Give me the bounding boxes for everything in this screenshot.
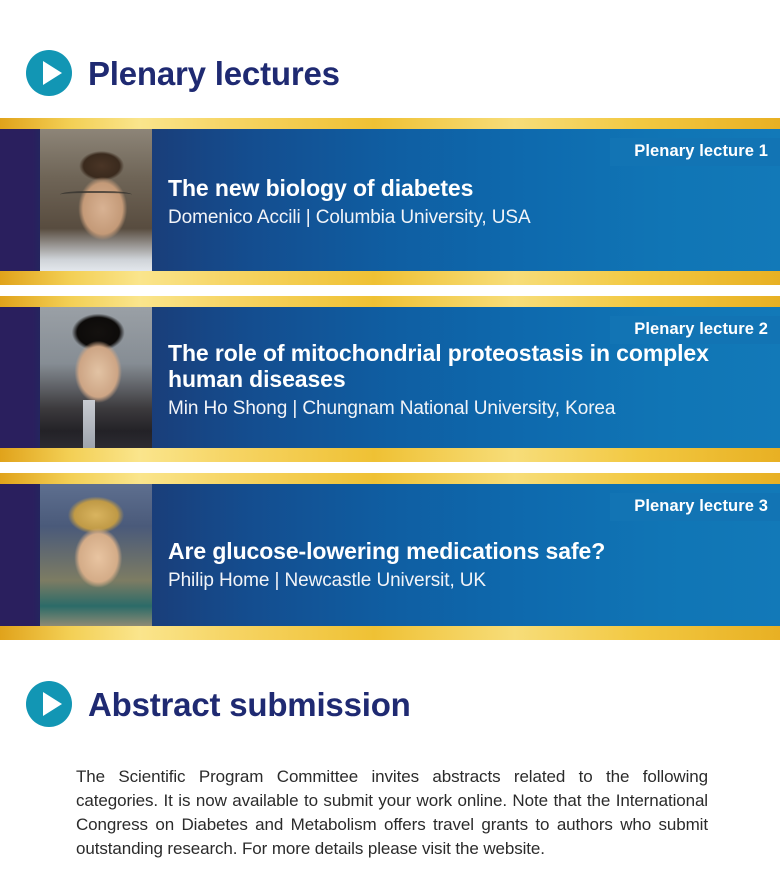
abstract-section-body: The Scientific Program Committee invites… — [76, 765, 708, 862]
plenary-lecture-text: The new biology of diabetes Domenico Acc… — [168, 176, 760, 229]
plenary-lecture-badge: Plenary lecture 3 — [610, 493, 780, 521]
plenary-lecture-card-inner: Plenary lecture 2 The role of mitochondr… — [0, 307, 780, 448]
play-triangle-icon — [26, 681, 72, 727]
plenary-section-heading: Plenary lectures — [26, 50, 340, 96]
plenary-lecture-byline: Domenico Accili | Columbia University, U… — [168, 207, 760, 229]
abstract-section-heading: Abstract submission — [26, 681, 411, 727]
plenary-lecture-title: The role of mitochondrial proteostasis i… — [168, 341, 760, 393]
plenary-lecture-card[interactable]: Plenary lecture 1 The new biology of dia… — [0, 118, 780, 285]
plenary-lecture-card-inner: Plenary lecture 1 The new biology of dia… — [0, 129, 780, 271]
speaker-portrait — [40, 484, 152, 626]
speaker-portrait — [40, 307, 152, 448]
speaker-portrait — [40, 129, 152, 271]
plenary-lecture-card-inner: Plenary lecture 3 Are glucose-lowering m… — [0, 484, 780, 626]
plenary-lecture-card[interactable]: Plenary lecture 2 The role of mitochondr… — [0, 296, 780, 462]
plenary-lecture-text: The role of mitochondrial proteostasis i… — [168, 341, 760, 419]
plenary-lecture-byline: Min Ho Shong | Chungnam National Univers… — [168, 398, 760, 420]
abstract-section-title: Abstract submission — [88, 688, 411, 721]
plenary-lecture-title: The new biology of diabetes — [168, 176, 760, 202]
plenary-lecture-text: Are glucose-lowering medications safe? P… — [168, 539, 760, 592]
play-triangle-icon — [26, 50, 72, 96]
plenary-lecture-title: Are glucose-lowering medications safe? — [168, 539, 760, 565]
plenary-section-title: Plenary lectures — [88, 57, 340, 90]
plenary-lecture-byline: Philip Home | Newcastle Universit, UK — [168, 570, 760, 592]
plenary-lecture-card[interactable]: Plenary lecture 3 Are glucose-lowering m… — [0, 473, 780, 640]
plenary-lecture-badge: Plenary lecture 1 — [610, 138, 780, 166]
